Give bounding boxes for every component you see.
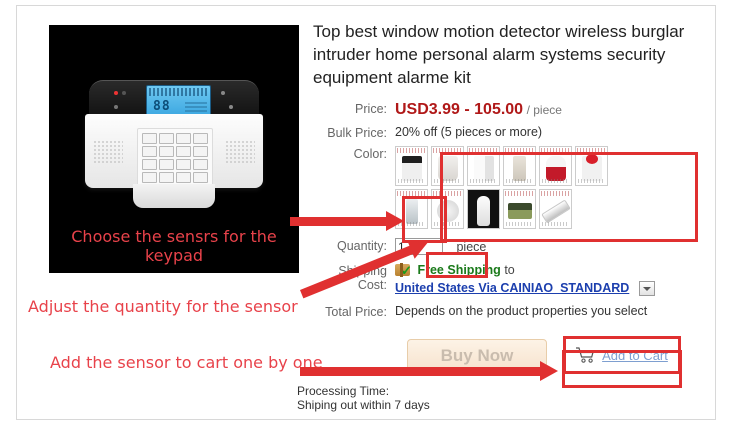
swatch-alarm-keypad-panel[interactable] bbox=[395, 146, 428, 186]
lcd-digits: 88 bbox=[153, 99, 171, 114]
panel-tray bbox=[133, 184, 215, 208]
processing-time-label: Processing Time: bbox=[297, 384, 430, 398]
led-grey-1 bbox=[122, 91, 126, 95]
annotation-box-quantity bbox=[426, 252, 488, 278]
bulk-price-value: 20% off (5 pieces or more) bbox=[395, 125, 723, 139]
processing-time: Processing Time: Shiping out within 7 da… bbox=[297, 384, 430, 412]
price-amount: USD3.99 - 105.00 bbox=[395, 101, 523, 118]
shipping-to-text: to bbox=[504, 263, 514, 277]
annotation-box-add-to-cart bbox=[562, 350, 682, 388]
annotation-text-1: Choose the sensrs for the keypad bbox=[49, 227, 299, 265]
total-price-value: Depends on the product properties you se… bbox=[395, 304, 723, 318]
price-value: USD3.99 - 105.00 / piece bbox=[395, 101, 723, 119]
alarm-panel-illustration: 88 bbox=[85, 80, 263, 212]
product-image[interactable]: 88 Choose the sensrs for the keypad bbox=[49, 25, 299, 273]
total-price-row: Total Price: Depends on the product prop… bbox=[313, 304, 723, 319]
led-red bbox=[114, 91, 118, 95]
shipping-method-link[interactable]: United States Via CAINIAO_STANDARD bbox=[395, 281, 629, 295]
annotation-text-2: Adjust the quantity for the sensor bbox=[28, 297, 298, 316]
price-unit: / piece bbox=[527, 103, 562, 117]
bulk-price-label: Bulk Price: bbox=[313, 125, 395, 140]
page-title: Top best window motion detector wireless… bbox=[313, 20, 713, 89]
quantity-label: Quantity: bbox=[313, 238, 395, 253]
speaker-right bbox=[225, 140, 255, 164]
price-label: Price: bbox=[313, 101, 395, 116]
annotation-box-swatch-grid bbox=[440, 152, 698, 242]
panel-body bbox=[85, 114, 263, 188]
annotation-text-3: Add the sensor to cart one by one bbox=[50, 353, 323, 372]
shipping-method-line: United States Via CAINIAO_STANDARD bbox=[395, 281, 723, 296]
led-grey-4 bbox=[229, 105, 233, 109]
led-grey-2 bbox=[114, 105, 118, 109]
led-grey-3 bbox=[221, 91, 225, 95]
keypad bbox=[137, 128, 213, 188]
lcd-side-bars bbox=[185, 100, 207, 112]
chevron-down-icon[interactable] bbox=[639, 281, 655, 296]
check-icon: ✓ bbox=[401, 266, 412, 276]
price-row: Price: USD3.99 - 105.00 / piece bbox=[313, 101, 723, 119]
bulk-price-row: Bulk Price: 20% off (5 pieces or more) bbox=[313, 125, 723, 140]
parcel-icon: ✓ bbox=[395, 264, 410, 276]
speaker-left bbox=[93, 140, 123, 164]
total-price-label: Total Price: bbox=[313, 304, 395, 319]
lcd-segment-row bbox=[149, 88, 208, 96]
color-label: Color: bbox=[313, 146, 395, 161]
processing-time-value: Shiping out within 7 days bbox=[297, 398, 430, 412]
